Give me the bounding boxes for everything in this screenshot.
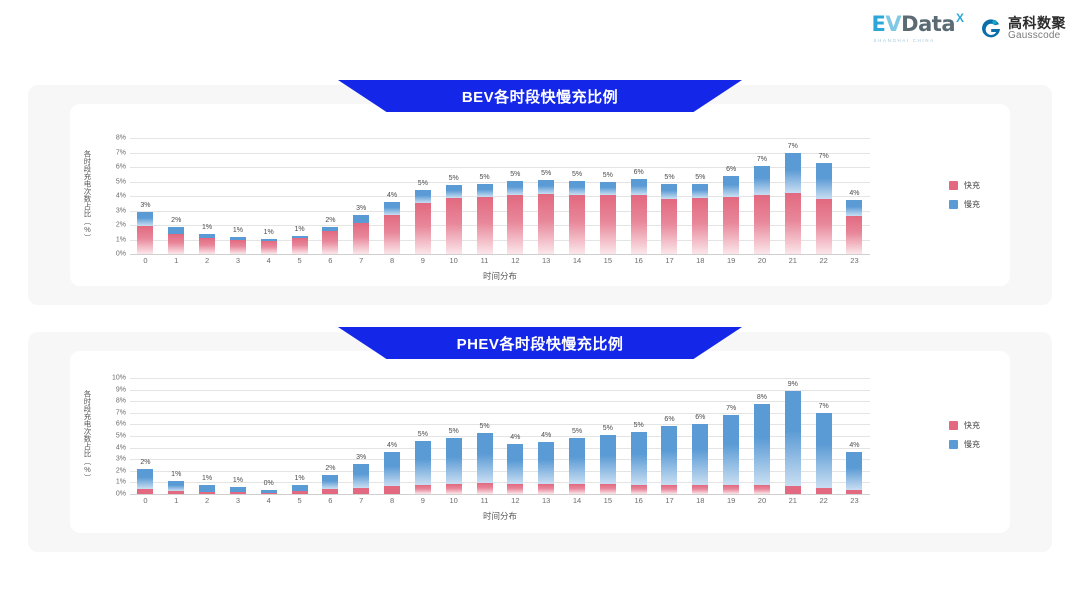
- bar-column[interactable]: 4%: [531, 378, 562, 494]
- bar-segment-fast-charge[interactable]: [199, 238, 215, 254]
- bar-column[interactable]: 4%: [377, 138, 408, 254]
- stacked-bar[interactable]: [477, 184, 493, 254]
- stacked-bar[interactable]: [230, 237, 246, 254]
- y-axis-label: 各时段充电次数占比（%）: [82, 378, 93, 494]
- bar-chart-bev: 各时段充电次数占比（%）0%1%2%3%4%5%6%7%8%3%2%1%1%1%…: [88, 138, 988, 288]
- bar-data-label: 4%: [541, 432, 551, 439]
- x-axis-tick: 12: [500, 256, 531, 265]
- bar-column[interactable]: 5%: [592, 138, 623, 254]
- bar-column[interactable]: 1%: [192, 378, 223, 494]
- bar-column[interactable]: 5%: [531, 138, 562, 254]
- x-axis-tick: 1: [161, 256, 192, 265]
- y-axis-tick: 3%: [116, 456, 126, 463]
- bar-segment-slow-charge[interactable]: [137, 212, 153, 226]
- bar-data-label: 1%: [202, 224, 212, 231]
- legend-swatch: [949, 421, 958, 430]
- bar-segment-slow-charge[interactable]: [723, 415, 739, 485]
- bar-segment-fast-charge[interactable]: [692, 198, 708, 254]
- stacked-bar[interactable]: [569, 181, 585, 254]
- bar-segment-slow-charge[interactable]: [415, 190, 431, 203]
- y-axis-tick: 6%: [116, 421, 126, 428]
- x-axis-tick: 6: [315, 256, 346, 265]
- bar-segment-slow-charge[interactable]: [446, 185, 462, 198]
- chart-legend: 快充慢充: [949, 180, 980, 218]
- bar-data-label: 6%: [634, 169, 644, 176]
- x-axis-tick: 18: [685, 496, 716, 505]
- stacked-bar[interactable]: [384, 452, 400, 494]
- bar-segment-fast-charge[interactable]: [846, 490, 862, 494]
- bar-segment-slow-charge[interactable]: [692, 184, 708, 198]
- stacked-bar[interactable]: [661, 184, 677, 254]
- bar-column[interactable]: 4%: [839, 378, 870, 494]
- stacked-bar[interactable]: [661, 426, 677, 494]
- bar-segment-fast-charge[interactable]: [199, 492, 215, 494]
- stacked-bar[interactable]: [477, 433, 493, 494]
- bar-data-label: 9%: [788, 381, 798, 388]
- stacked-bar[interactable]: [507, 444, 523, 494]
- stacked-bar[interactable]: [846, 200, 862, 254]
- evdata-wordmark: EVData: [872, 14, 955, 35]
- x-axis-tick: 8: [377, 496, 408, 505]
- bar-segment-fast-charge[interactable]: [661, 199, 677, 254]
- bar-segment-slow-charge[interactable]: [168, 481, 184, 491]
- bar-data-label: 3%: [356, 454, 366, 461]
- bar-data-label: 5%: [603, 172, 613, 179]
- bar-series-group: 3%2%1%1%1%1%2%3%4%5%5%5%5%5%5%5%6%5%5%6%…: [130, 138, 870, 254]
- bar-segment-fast-charge[interactable]: [477, 483, 493, 494]
- gridline: [130, 494, 870, 495]
- bar-segment-slow-charge[interactable]: [384, 452, 400, 486]
- bar-column[interactable]: 2%: [315, 378, 346, 494]
- bar-data-label: 7%: [819, 153, 829, 160]
- bar-data-label: 2%: [140, 459, 150, 466]
- bar-data-label: 3%: [140, 202, 150, 209]
- y-axis-ticks: 0%1%2%3%4%5%6%7%8%9%10%: [102, 378, 128, 494]
- bar-column[interactable]: 5%: [592, 378, 623, 494]
- bar-segment-slow-charge[interactable]: [816, 413, 832, 488]
- x-axis-tick: 13: [531, 496, 562, 505]
- bar-segment-slow-charge[interactable]: [199, 485, 215, 492]
- bar-segment-slow-charge[interactable]: [692, 424, 708, 484]
- bar-segment-fast-charge[interactable]: [723, 197, 739, 254]
- bar-column[interactable]: 2%: [315, 138, 346, 254]
- legend-label: 快充: [964, 180, 980, 191]
- bar-data-label: 5%: [695, 174, 705, 181]
- bar-segment-fast-charge[interactable]: [723, 485, 739, 494]
- stacked-bar[interactable]: [600, 182, 616, 255]
- bar-segment-slow-charge[interactable]: [661, 184, 677, 199]
- x-axis-tick: 22: [808, 496, 839, 505]
- stacked-bar[interactable]: [785, 391, 801, 494]
- bar-segment-slow-charge[interactable]: [446, 438, 462, 484]
- stacked-bar[interactable]: [230, 487, 246, 494]
- bar-segment-fast-charge[interactable]: [507, 484, 523, 494]
- bar-data-label: 1%: [202, 475, 212, 482]
- bar-data-label: 7%: [788, 143, 798, 150]
- stacked-bar[interactable]: [292, 485, 308, 494]
- chart-title-banner-bev: BEV各时段快慢充比例: [338, 80, 742, 112]
- stacked-bar[interactable]: [507, 181, 523, 254]
- bar-column[interactable]: 5%: [623, 378, 654, 494]
- bar-column[interactable]: 4%: [377, 378, 408, 494]
- bar-data-label: 5%: [449, 428, 459, 435]
- bar-column[interactable]: 6%: [654, 378, 685, 494]
- bar-segment-fast-charge[interactable]: [816, 488, 832, 494]
- x-axis-tick: 7: [346, 496, 377, 505]
- legend-swatch: [949, 181, 958, 190]
- bar-segment-slow-charge[interactable]: [723, 176, 739, 198]
- bar-column[interactable]: 6%: [685, 378, 716, 494]
- gausscode-name-cn: 高科数聚: [1008, 16, 1066, 31]
- bar-segment-slow-charge[interactable]: [353, 215, 369, 223]
- bar-data-label: 3%: [356, 205, 366, 212]
- stacked-bar[interactable]: [415, 190, 431, 254]
- bar-segment-fast-charge[interactable]: [631, 485, 647, 494]
- stacked-bar[interactable]: [446, 185, 462, 254]
- bar-segment-slow-charge[interactable]: [569, 438, 585, 484]
- chart-title-banner-phev: PHEV各时段快慢充比例: [338, 327, 742, 359]
- bar-data-label: 5%: [418, 180, 428, 187]
- legend-item[interactable]: 快充: [949, 420, 980, 431]
- bar-data-label: 4%: [510, 434, 520, 441]
- bar-column[interactable]: 3%: [346, 378, 377, 494]
- y-axis-tick: 7%: [116, 149, 126, 156]
- bar-column[interactable]: 3%: [130, 138, 161, 254]
- stacked-bar[interactable]: [816, 413, 832, 494]
- bar-data-label: 4%: [849, 442, 859, 449]
- bar-data-label: 1%: [264, 229, 274, 236]
- y-axis-tick: 0%: [116, 251, 126, 258]
- bar-data-label: 2%: [171, 217, 181, 224]
- bar-segment-fast-charge[interactable]: [353, 488, 369, 494]
- stacked-bar[interactable]: [353, 464, 369, 494]
- stacked-bar[interactable]: [754, 166, 770, 254]
- bar-segment-fast-charge[interactable]: [384, 215, 400, 254]
- bar-segment-slow-charge[interactable]: [569, 181, 585, 195]
- bar-segment-fast-charge[interactable]: [137, 489, 153, 494]
- bar-segment-slow-charge[interactable]: [846, 200, 862, 215]
- bar-data-label: 8%: [757, 394, 767, 401]
- bar-segment-slow-charge[interactable]: [754, 404, 770, 485]
- y-axis-tick: 6%: [116, 164, 126, 171]
- bar-segment-slow-charge[interactable]: [785, 391, 801, 486]
- bar-data-label: 4%: [387, 192, 397, 199]
- bar-segment-fast-charge[interactable]: [322, 231, 338, 254]
- bar-segment-slow-charge[interactable]: [816, 163, 832, 199]
- bar-segment-slow-charge[interactable]: [477, 433, 493, 483]
- stacked-bar[interactable]: [600, 435, 616, 494]
- x-axis-tick: 1: [161, 496, 192, 505]
- bar-column[interactable]: 2%: [130, 378, 161, 494]
- bar-data-label: 6%: [695, 414, 705, 421]
- bar-data-label: 1%: [233, 477, 243, 484]
- bar-data-label: 5%: [541, 170, 551, 177]
- bar-segment-slow-charge[interactable]: [507, 181, 523, 195]
- bar-segment-fast-charge[interactable]: [692, 485, 708, 494]
- stacked-bar[interactable]: [199, 234, 215, 254]
- stacked-bar[interactable]: [692, 184, 708, 254]
- bar-segment-fast-charge[interactable]: [168, 234, 184, 254]
- bar-data-label: 7%: [726, 405, 736, 412]
- stacked-bar[interactable]: [199, 485, 215, 494]
- bar-data-label: 6%: [726, 166, 736, 173]
- x-axis-tick: 3: [222, 496, 253, 505]
- gausscode-logo: 高科数聚 Gausscode: [980, 16, 1066, 41]
- x-axis-tick: 16: [623, 496, 654, 505]
- bar-segment-slow-charge[interactable]: [415, 441, 431, 485]
- evdata-letter-e: E: [872, 12, 886, 36]
- bar-column[interactable]: 8%: [747, 378, 778, 494]
- bar-segment-fast-charge[interactable]: [816, 199, 832, 254]
- stacked-bar[interactable]: [538, 180, 554, 254]
- bar-data-label: 1%: [294, 475, 304, 482]
- chart-title-phev: PHEV各时段快慢充比例: [457, 333, 624, 354]
- x-axis-tick: 11: [469, 496, 500, 505]
- bar-segment-slow-charge[interactable]: [846, 452, 862, 490]
- y-axis-tick: 3%: [116, 207, 126, 214]
- bar-segment-fast-charge[interactable]: [353, 223, 369, 254]
- bar-segment-slow-charge[interactable]: [507, 444, 523, 484]
- bar-segment-fast-charge[interactable]: [230, 240, 246, 254]
- bar-segment-slow-charge[interactable]: [754, 166, 770, 194]
- bar-column[interactable]: 7%: [747, 138, 778, 254]
- slide-page: EVData X SHANGHAI CHINA 高科数聚 Gausscode B…: [0, 0, 1080, 608]
- x-axis-tick: 19: [716, 256, 747, 265]
- bar-segment-fast-charge[interactable]: [446, 198, 462, 254]
- bar-data-label: 5%: [479, 174, 489, 181]
- bar-column[interactable]: 1%: [253, 138, 284, 254]
- gridline: [130, 254, 870, 255]
- bar-segment-slow-charge[interactable]: [322, 475, 338, 489]
- bar-segment-fast-charge[interactable]: [322, 489, 338, 494]
- bar-segment-fast-charge[interactable]: [661, 485, 677, 494]
- y-axis-tick: 4%: [116, 444, 126, 451]
- y-axis-tick: 5%: [116, 433, 126, 440]
- x-axis-tick: 15: [592, 256, 623, 265]
- bar-segment-slow-charge[interactable]: [353, 464, 369, 487]
- bar-segment-slow-charge[interactable]: [538, 442, 554, 483]
- plot-area: 2%1%1%1%0%1%2%3%4%5%5%5%4%4%5%5%5%6%6%7%…: [130, 378, 870, 494]
- legend-item[interactable]: 慢充: [949, 199, 980, 210]
- stacked-bar[interactable]: [846, 452, 862, 494]
- x-axis-tick: 16: [623, 256, 654, 265]
- bar-column[interactable]: 5%: [562, 378, 593, 494]
- x-axis-label: 时间分布: [130, 270, 870, 282]
- bar-column[interactable]: 6%: [623, 138, 654, 254]
- x-axis-tick: 19: [716, 496, 747, 505]
- bar-data-label: 5%: [572, 171, 582, 178]
- stacked-bar[interactable]: [816, 163, 832, 254]
- stacked-bar[interactable]: [384, 202, 400, 254]
- bar-column[interactable]: 7%: [777, 138, 808, 254]
- evdata-letter-v: V: [885, 12, 901, 36]
- bar-column[interactable]: 5%: [654, 138, 685, 254]
- bar-column[interactable]: 5%: [438, 378, 469, 494]
- bar-segment-slow-charge[interactable]: [477, 184, 493, 197]
- bar-column[interactable]: 1%: [192, 138, 223, 254]
- stacked-bar[interactable]: [137, 212, 153, 254]
- x-axis-tick: 8: [377, 256, 408, 265]
- bar-segment-slow-charge[interactable]: [785, 153, 801, 193]
- stacked-bar[interactable]: [353, 215, 369, 254]
- stacked-bar[interactable]: [754, 404, 770, 494]
- bar-data-label: 1%: [294, 226, 304, 233]
- y-axis-tick: 1%: [116, 479, 126, 486]
- x-axis-tick: 13: [531, 256, 562, 265]
- legend-item[interactable]: 快充: [949, 180, 980, 191]
- bar-column[interactable]: 5%: [407, 138, 438, 254]
- bar-column[interactable]: 2%: [161, 138, 192, 254]
- stacked-bar[interactable]: [415, 441, 431, 494]
- bar-data-label: 7%: [819, 403, 829, 410]
- bar-data-label: 5%: [449, 175, 459, 182]
- x-axis-ticks: 01234567891011121314151617181920212223: [130, 256, 870, 265]
- y-axis-tick: 0%: [116, 491, 126, 498]
- bar-column[interactable]: 5%: [685, 138, 716, 254]
- x-axis-tick: 23: [839, 496, 870, 505]
- bar-segment-fast-charge[interactable]: [538, 194, 554, 254]
- stacked-bar[interactable]: [446, 438, 462, 494]
- bar-segment-fast-charge[interactable]: [569, 484, 585, 494]
- bar-segment-fast-charge[interactable]: [507, 195, 523, 254]
- legend-label: 慢充: [964, 439, 980, 450]
- stacked-bar[interactable]: [261, 490, 277, 494]
- x-axis-tick: 17: [654, 496, 685, 505]
- x-axis-tick: 9: [407, 496, 438, 505]
- y-axis-tick: 5%: [116, 178, 126, 185]
- y-axis-tick: 4%: [116, 193, 126, 200]
- y-axis-tick: 1%: [116, 236, 126, 243]
- stacked-bar[interactable]: [292, 236, 308, 254]
- x-axis-tick: 14: [562, 496, 593, 505]
- bar-column[interactable]: 4%: [500, 378, 531, 494]
- x-axis-tick: 20: [747, 256, 778, 265]
- legend-item[interactable]: 慢充: [949, 439, 980, 450]
- x-axis-tick: 18: [685, 256, 716, 265]
- stacked-bar[interactable]: [631, 432, 647, 494]
- bar-data-label: 5%: [572, 428, 582, 435]
- bar-column[interactable]: 3%: [346, 138, 377, 254]
- bar-segment-fast-charge[interactable]: [785, 193, 801, 254]
- bar-segment-fast-charge[interactable]: [261, 241, 277, 254]
- y-axis-tick: 9%: [116, 386, 126, 393]
- bar-segment-slow-charge[interactable]: [600, 182, 616, 196]
- bar-column[interactable]: 5%: [562, 138, 593, 254]
- bar-segment-fast-charge[interactable]: [538, 484, 554, 494]
- stacked-bar[interactable]: [692, 424, 708, 494]
- bar-segment-slow-charge[interactable]: [631, 432, 647, 485]
- x-axis-tick: 0: [130, 496, 161, 505]
- stacked-bar[interactable]: [322, 475, 338, 494]
- bar-segment-fast-charge[interactable]: [846, 216, 862, 254]
- stacked-bar[interactable]: [631, 179, 647, 254]
- stacked-bar[interactable]: [569, 438, 585, 494]
- bar-column[interactable]: 6%: [716, 138, 747, 254]
- stacked-bar[interactable]: [261, 239, 277, 254]
- bar-segment-slow-charge[interactable]: [661, 426, 677, 485]
- stacked-bar[interactable]: [168, 481, 184, 494]
- evdata-x-icon: X: [956, 11, 964, 25]
- stacked-bar[interactable]: [538, 442, 554, 494]
- x-axis-tick: 20: [747, 496, 778, 505]
- bar-column[interactable]: 5%: [500, 138, 531, 254]
- legend-label: 快充: [964, 420, 980, 431]
- bar-segment-slow-charge[interactable]: [600, 435, 616, 484]
- stacked-bar[interactable]: [723, 415, 739, 494]
- x-axis-tick: 2: [192, 496, 223, 505]
- bar-column[interactable]: 7%: [808, 378, 839, 494]
- x-axis-tick: 5: [284, 496, 315, 505]
- stacked-bar[interactable]: [723, 176, 739, 254]
- bar-column[interactable]: 4%: [839, 138, 870, 254]
- bar-segment-fast-charge[interactable]: [754, 195, 770, 254]
- bar-column[interactable]: 1%: [222, 378, 253, 494]
- bar-column[interactable]: 9%: [777, 378, 808, 494]
- bar-segment-slow-charge[interactable]: [384, 202, 400, 215]
- bar-segment-fast-charge[interactable]: [415, 203, 431, 254]
- stacked-bar[interactable]: [137, 469, 153, 494]
- bar-segment-slow-charge[interactable]: [538, 180, 554, 194]
- bar-segment-fast-charge[interactable]: [446, 484, 462, 494]
- x-axis-tick: 7: [346, 256, 377, 265]
- bar-segment-fast-charge[interactable]: [292, 238, 308, 254]
- bar-column[interactable]: 1%: [222, 138, 253, 254]
- stacked-bar[interactable]: [785, 153, 801, 254]
- bar-segment-fast-charge[interactable]: [168, 491, 184, 494]
- bar-column[interactable]: 5%: [407, 378, 438, 494]
- bar-segment-fast-charge[interactable]: [631, 195, 647, 254]
- x-axis-tick: 22: [808, 256, 839, 265]
- bar-segment-fast-charge[interactable]: [754, 485, 770, 494]
- bar-segment-fast-charge[interactable]: [600, 195, 616, 254]
- bar-column[interactable]: 1%: [161, 378, 192, 494]
- bar-column[interactable]: 7%: [716, 378, 747, 494]
- bar-segment-fast-charge[interactable]: [230, 492, 246, 494]
- x-axis-tick: 2: [192, 256, 223, 265]
- bar-segment-slow-charge[interactable]: [631, 179, 647, 195]
- bar-column[interactable]: 5%: [469, 138, 500, 254]
- brand-logos: EVData X SHANGHAI CHINA 高科数聚 Gausscode: [872, 14, 1066, 43]
- bar-column[interactable]: 5%: [438, 138, 469, 254]
- bar-data-label: 5%: [510, 171, 520, 178]
- bar-segment-fast-charge[interactable]: [384, 486, 400, 494]
- bar-column[interactable]: 0%: [253, 378, 284, 494]
- bar-segment-fast-charge[interactable]: [569, 195, 585, 254]
- bar-column[interactable]: 1%: [284, 138, 315, 254]
- x-axis-tick: 15: [592, 496, 623, 505]
- bar-segment-fast-charge[interactable]: [600, 484, 616, 494]
- bar-data-label: 5%: [418, 431, 428, 438]
- bar-segment-slow-charge[interactable]: [137, 469, 153, 489]
- bar-segment-fast-charge[interactable]: [415, 485, 431, 494]
- bar-column[interactable]: 5%: [469, 378, 500, 494]
- bar-data-label: 7%: [757, 156, 767, 163]
- bar-segment-fast-charge[interactable]: [137, 226, 153, 254]
- bar-column[interactable]: 7%: [808, 138, 839, 254]
- stacked-bar[interactable]: [322, 227, 338, 254]
- stacked-bar[interactable]: [168, 227, 184, 254]
- bar-series-group: 2%1%1%1%0%1%2%3%4%5%5%5%4%4%5%5%5%6%6%7%…: [130, 378, 870, 494]
- bar-segment-fast-charge[interactable]: [785, 486, 801, 494]
- bar-segment-fast-charge[interactable]: [477, 197, 493, 254]
- x-axis-tick: 6: [315, 496, 346, 505]
- bar-segment-fast-charge[interactable]: [261, 493, 277, 494]
- y-axis-label: 各时段充电次数占比（%）: [82, 138, 93, 254]
- x-axis-tick: 3: [222, 256, 253, 265]
- bar-column[interactable]: 1%: [284, 378, 315, 494]
- bar-segment-fast-charge[interactable]: [292, 491, 308, 494]
- chart-legend: 快充慢充: [949, 420, 980, 458]
